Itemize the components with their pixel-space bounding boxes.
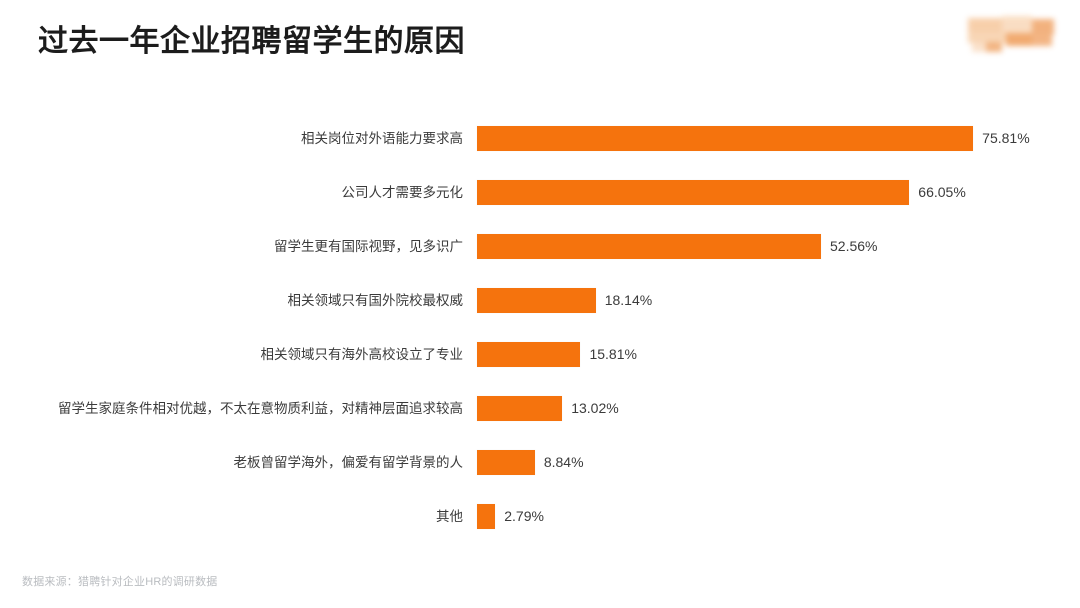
- bar-fill[interactable]: [477, 180, 909, 205]
- bar-fill[interactable]: [477, 288, 596, 313]
- bar-value-label: 18.14%: [605, 291, 652, 310]
- bar-category-label: 公司人才需要多元化: [342, 183, 464, 202]
- bar-row: 留学生更有国际视野，见多识广52.56%: [0, 234, 1080, 260]
- bar-row: 老板曾留学海外，偏爱有留学背景的人8.84%: [0, 450, 1080, 476]
- bar-category-label: 相关岗位对外语能力要求高: [301, 129, 463, 148]
- bar-category-label: 留学生更有国际视野，见多识广: [274, 237, 463, 256]
- bar-track: [477, 180, 909, 205]
- bar-track: [477, 126, 973, 151]
- bar-fill[interactable]: [477, 234, 821, 259]
- horizontal-bar-chart: 相关岗位对外语能力要求高75.81%公司人才需要多元化66.05%留学生更有国际…: [0, 104, 1080, 544]
- bar-track: [477, 504, 495, 529]
- title-underline-rule: [38, 62, 310, 65]
- bar-category-label: 相关领域只有国外院校最权威: [288, 291, 464, 310]
- bar-fill[interactable]: [477, 504, 495, 529]
- bar-value-label: 66.05%: [918, 183, 965, 202]
- bar-value-label: 15.81%: [589, 345, 636, 364]
- bar-track: [477, 234, 821, 259]
- bar-value-label: 2.79%: [504, 507, 544, 526]
- page-title: 过去一年企业招聘留学生的原因: [38, 16, 465, 60]
- bar-track: [477, 396, 562, 421]
- bar-value-label: 8.84%: [544, 453, 584, 472]
- bar-value-label: 13.02%: [571, 399, 618, 418]
- bar-row: 公司人才需要多元化66.05%: [0, 180, 1080, 206]
- bar-category-label: 留学生家庭条件相对优越，不太在意物质利益，对精神层面追求较高: [58, 399, 463, 418]
- bar-fill[interactable]: [477, 396, 562, 421]
- bar-row: 其他2.79%: [0, 504, 1080, 530]
- bar-row: 留学生家庭条件相对优越，不太在意物质利益，对精神层面追求较高13.02%: [0, 396, 1080, 422]
- bar-track: [477, 288, 596, 313]
- bar-fill[interactable]: [477, 126, 973, 151]
- bar-value-label: 75.81%: [982, 129, 1029, 148]
- data-source-note: 数据来源：猎聘针对企业HR的调研数据: [22, 573, 218, 589]
- bar-fill[interactable]: [477, 342, 580, 367]
- bar-value-label: 52.56%: [830, 237, 877, 256]
- bar-category-label: 老板曾留学海外，偏爱有留学背景的人: [234, 453, 464, 472]
- bar-track: [477, 342, 580, 367]
- bar-row: 相关领域只有国外院校最权威18.14%: [0, 288, 1080, 314]
- bar-fill[interactable]: [477, 450, 535, 475]
- bar-row: 相关领域只有海外高校设立了专业15.81%: [0, 342, 1080, 368]
- bar-category-label: 其他: [436, 507, 463, 526]
- bar-category-label: 相关领域只有海外高校设立了专业: [261, 345, 464, 364]
- bar-row: 相关岗位对外语能力要求高75.81%: [0, 126, 1080, 152]
- bar-track: [477, 450, 535, 475]
- page-header: 过去一年企业招聘留学生的原因: [0, 0, 1080, 92]
- brand-logo-icon: [966, 14, 1058, 54]
